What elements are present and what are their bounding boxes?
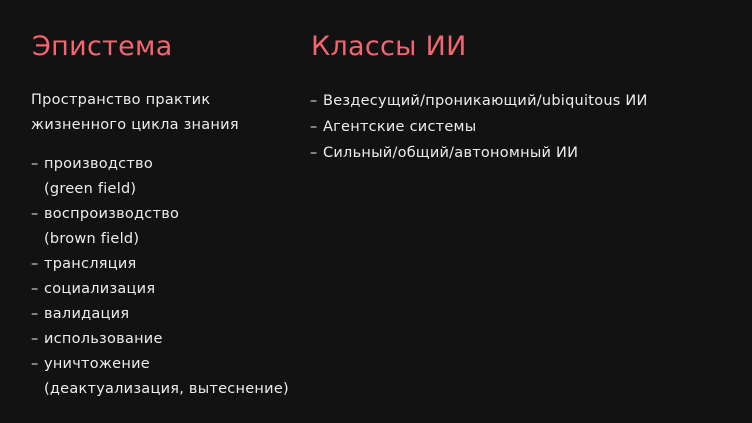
list-item-row: –уничтожение [31,352,289,377]
list-item-row: –трансляция [31,252,289,277]
dash-bullet-icon: – [31,302,44,327]
list-item-sublabel: (green field) [31,177,289,202]
episteme-description: Пространство практик жизненного цикла зн… [31,88,239,138]
list-item-label: социализация [44,281,155,297]
list-item-label: трансляция [44,256,137,272]
list-item: –Вездесущий/проникающий/ubiquitous ИИ [310,88,648,114]
dash-bullet-icon: – [31,327,44,352]
episteme-description-line-1: Пространство практик [31,88,239,113]
dash-bullet-icon: – [310,88,323,114]
list-item-label: Сильный/общий/автономный ИИ [323,145,578,161]
list-item-row: –использование [31,327,289,352]
ai-classes-bullet-list: –Вездесущий/проникающий/ubiquitous ИИ –А… [310,88,648,166]
list-item-label: производство [44,156,153,172]
dash-bullet-icon: – [31,277,44,302]
episteme-bullet-list: –производство (green field) –воспроизвод… [31,152,289,402]
list-item-label: использование [44,331,163,347]
list-item-row: –Агентские системы [310,114,648,140]
episteme-description-line-2: жизненного цикла знания [31,113,239,138]
list-item-label: Агентские системы [323,119,476,135]
list-item-label: валидация [44,306,129,322]
dash-bullet-icon: – [31,252,44,277]
list-item-row: –Сильный/общий/автономный ИИ [310,140,648,166]
list-item-sublabel: (деактуализация, вытеснение) [31,377,289,402]
dash-bullet-icon: – [310,114,323,140]
list-item-row: –валидация [31,302,289,327]
dash-bullet-icon: – [31,152,44,177]
list-item-label: уничтожение [44,356,150,372]
page-title-ai-classes: Классы ИИ [311,32,467,62]
list-item: –Агентские системы [310,114,648,140]
page-title-episteme: Эпистема [32,32,173,62]
dash-bullet-icon: – [31,352,44,377]
slide-root: Эпистема Пространство практик жизненного… [0,0,752,423]
list-item: –валидация [31,302,289,327]
list-item: –Сильный/общий/автономный ИИ [310,140,648,166]
list-item-row: –производство [31,152,289,177]
list-item-label: воспроизводство [44,206,179,222]
list-item: –производство (green field) [31,152,289,202]
list-item-row: –Вездесущий/проникающий/ubiquitous ИИ [310,88,648,114]
list-item: –уничтожение (деактуализация, вытеснение… [31,352,289,402]
list-item: –трансляция [31,252,289,277]
list-item-sublabel: (brown field) [31,227,289,252]
list-item: –социализация [31,277,289,302]
list-item-label: Вездесущий/проникающий/ubiquitous ИИ [323,93,648,109]
list-item: –воспроизводство (brown field) [31,202,289,252]
list-item: –использование [31,327,289,352]
dash-bullet-icon: – [310,140,323,166]
list-item-row: –социализация [31,277,289,302]
list-item-row: –воспроизводство [31,202,289,227]
dash-bullet-icon: – [31,202,44,227]
